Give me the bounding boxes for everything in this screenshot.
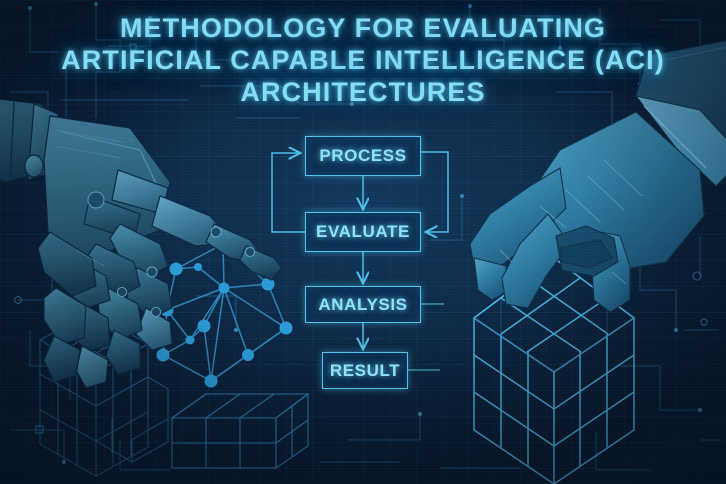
poster-canvas: METHODOLOGY FOR EVALUATING ARTIFICIAL CA… (0, 0, 726, 484)
flow-step-label: EVALUATE (316, 222, 410, 242)
flow-step-analysis[interactable]: ANALYSIS (305, 286, 421, 323)
flow-step-label: RESULT (330, 361, 400, 381)
flow-step-label: PROCESS (319, 146, 406, 166)
flow-step-process[interactable]: PROCESS (305, 136, 421, 176)
flow-step-label: ANALYSIS (318, 295, 407, 315)
flowchart: PROCESS EVALUATE ANALYSIS RESULT (0, 0, 726, 484)
flow-step-evaluate[interactable]: EVALUATE (305, 212, 421, 252)
flow-step-result[interactable]: RESULT (322, 352, 408, 389)
